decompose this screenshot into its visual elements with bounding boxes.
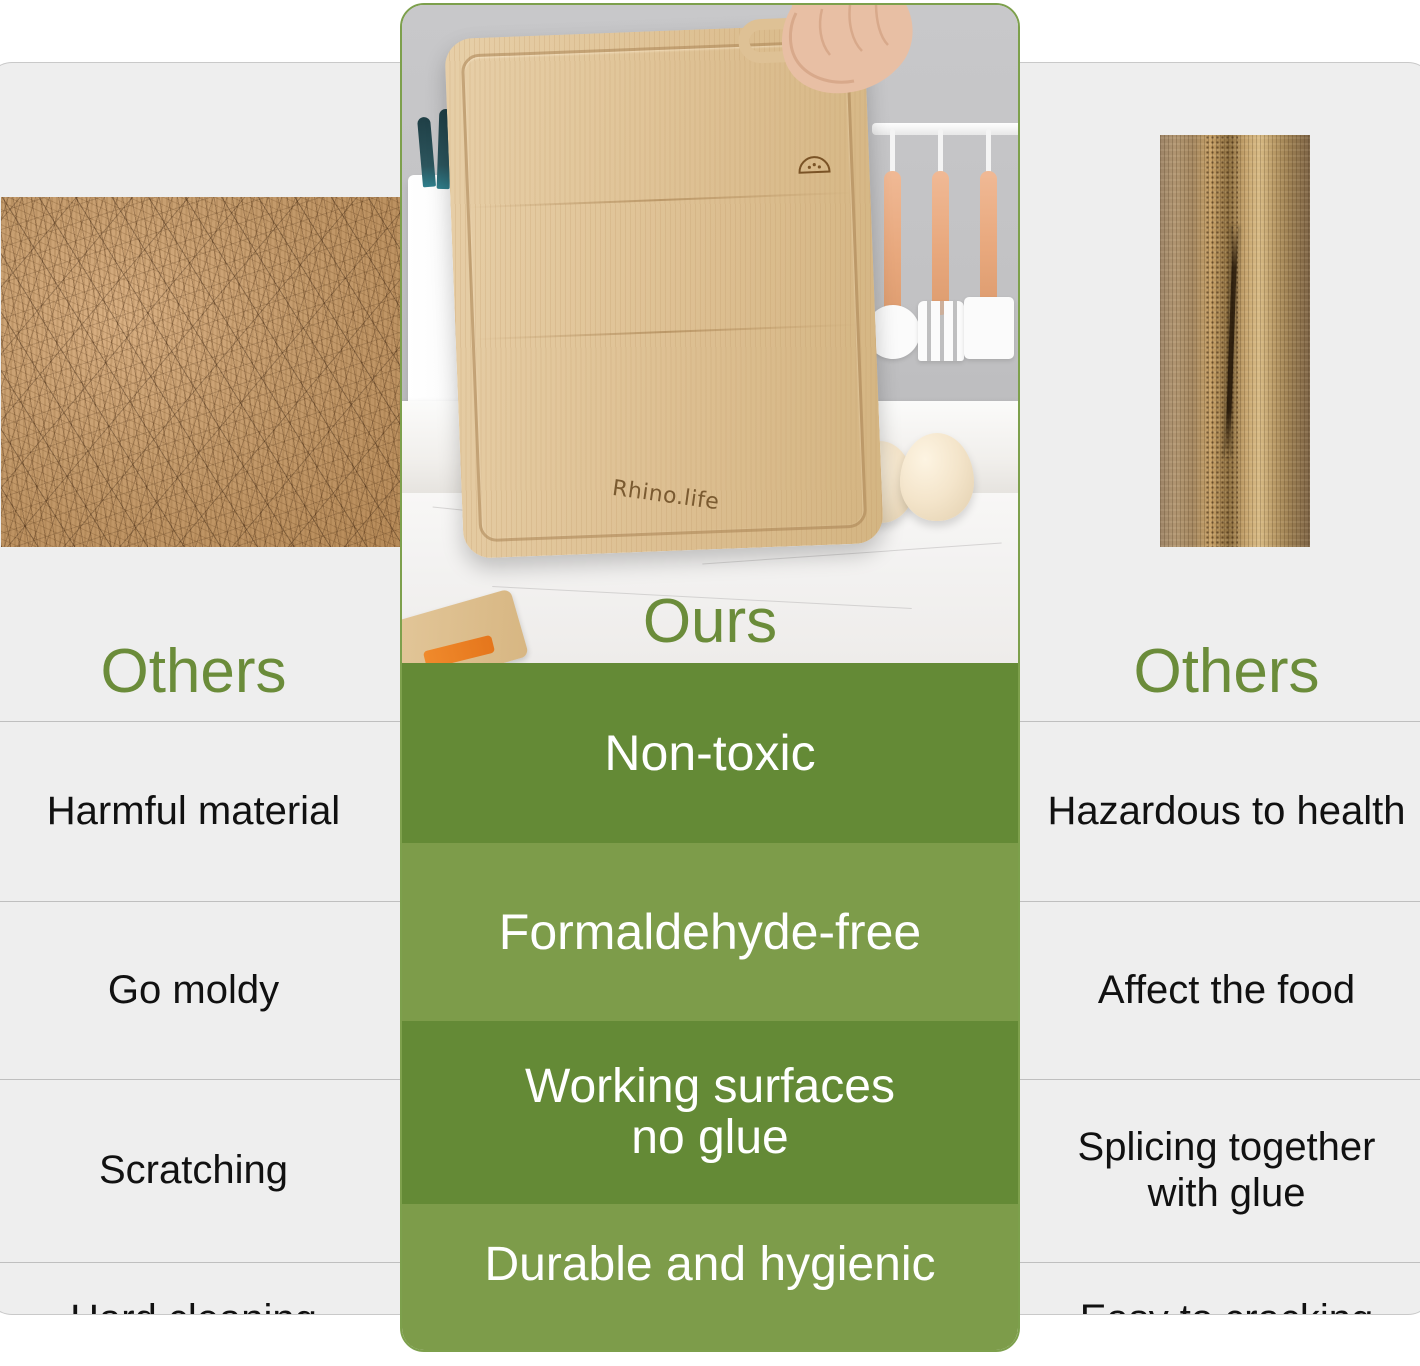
hand-holding-board: [774, 5, 924, 149]
right-row-1-label: Hazardous to health: [1020, 721, 1420, 901]
left-row-2-label: Go moldy: [0, 901, 400, 1079]
column-header-left: Others: [0, 63, 400, 721]
left-row-4-label: Hard cleaning: [0, 1262, 400, 1315]
spatula-head: [964, 297, 1014, 359]
ladle-handle: [884, 171, 901, 323]
column-header-right: Others: [1020, 63, 1420, 721]
spatula-handle: [980, 171, 997, 311]
right-row-4-label: Easy to cracking: [1020, 1262, 1420, 1315]
rack-hook: [938, 129, 943, 175]
fork-handle: [932, 171, 949, 315]
fruit-slice-stamp-icon: [797, 154, 832, 175]
center-row-4-value: Durable and hygienic: [402, 1204, 1018, 1352]
left-row-3-label: Scratching: [0, 1079, 400, 1262]
center-row-2-value: Formaldehyde-free: [402, 843, 1018, 1021]
right-row-2-label: Affect the food: [1020, 901, 1420, 1079]
fork-head: [918, 301, 964, 361]
center-row-3-value: Working surfaces no glue: [402, 1021, 1018, 1204]
ours-hero-photo: Rhino.life Ours: [402, 5, 1018, 665]
comparison-infographic: Others Harmful material Go moldy Scratch…: [0, 0, 1420, 1366]
left-row-1-label: Harmful material: [0, 721, 400, 901]
others-left-card: Others Harmful material Go moldy Scratch…: [0, 62, 400, 1315]
egg: [900, 433, 974, 521]
column-header-center: Ours: [402, 591, 1018, 653]
rack-hook: [986, 129, 991, 175]
ours-center-panel: Rhino.life Ours Non-toxic Formaldehyde-f…: [400, 3, 1020, 1352]
right-row-3-label: Splicing together with glue: [1020, 1079, 1420, 1262]
center-row-1-value: Non-toxic: [402, 663, 1018, 843]
others-right-card: Others Hazardous to health Affect the fo…: [1020, 62, 1420, 1315]
